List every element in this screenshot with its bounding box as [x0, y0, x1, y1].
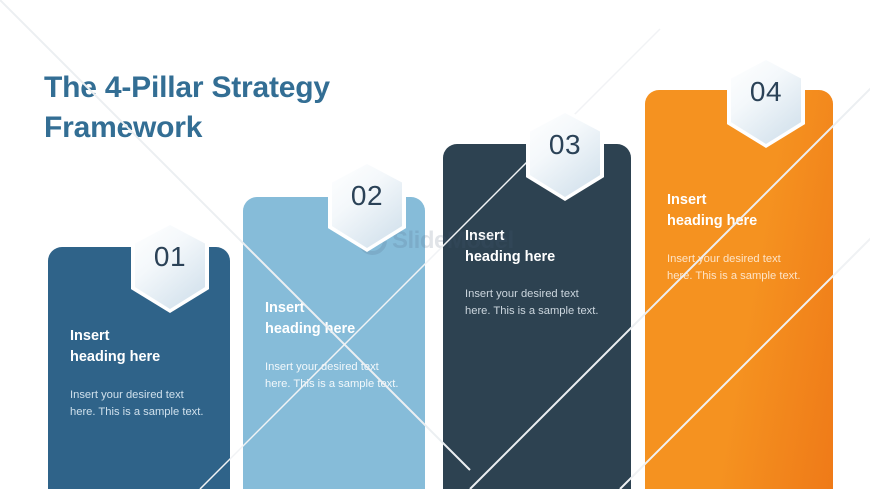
pillar-body-text: Insert your desired text here. This is a… — [70, 387, 205, 421]
pillar-number-label: 04 — [727, 76, 805, 108]
pillar-number-label: 02 — [328, 180, 406, 212]
pillar-heading: Insert heading here — [667, 190, 817, 232]
pillar-card-04[interactable]: Insert heading here Insert your desired … — [645, 90, 833, 489]
pillar-number-badge-03[interactable]: 03 — [526, 109, 604, 201]
pillar-number-badge-01[interactable]: 01 — [131, 221, 209, 313]
pillar-body-text: Insert your desired text here. This is a… — [667, 251, 802, 285]
pillar-heading: Insert heading here — [465, 226, 615, 268]
pillar-number-label: 01 — [131, 241, 209, 273]
page-title: The 4-Pillar Strategy Framework — [44, 68, 424, 148]
pillar-number-badge-04[interactable]: 04 — [727, 56, 805, 148]
pillar-number-badge-02[interactable]: 02 — [328, 160, 406, 252]
slide-canvas: The 4-Pillar Strategy Framework Insert h… — [0, 0, 870, 489]
pillar-heading: Insert heading here — [70, 326, 220, 368]
pillar-number-label: 03 — [526, 129, 604, 161]
pillar-heading: Insert heading here — [265, 298, 415, 340]
pillar-body-text: Insert your desired text here. This is a… — [265, 359, 400, 393]
pillar-body-text: Insert your desired text here. This is a… — [465, 286, 600, 320]
